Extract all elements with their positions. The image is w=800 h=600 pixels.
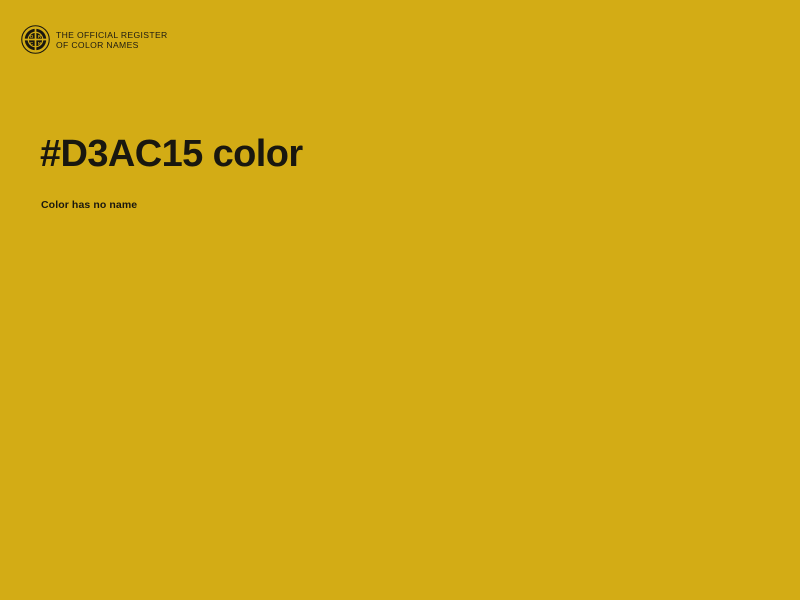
svg-text:O: O xyxy=(30,34,34,39)
svg-text:N: N xyxy=(38,41,41,46)
brand-wordmark: THE OFFICIAL REGISTER OF COLOR NAMES xyxy=(56,30,168,51)
color-name-status: Color has no name xyxy=(41,198,137,212)
color-swatch-field xyxy=(0,0,800,600)
official-register-seal-icon: O R C N xyxy=(21,25,50,54)
page-title: #D3AC15 color xyxy=(40,132,303,176)
brand-lockup[interactable]: O R C N THE OFFICIAL REGISTER OF COLOR N… xyxy=(21,25,168,54)
brand-line-1: THE OFFICIAL REGISTER xyxy=(56,30,168,41)
brand-line-2: OF COLOR NAMES xyxy=(56,40,168,51)
color-page: O R C N THE OFFICIAL REGISTER OF COLOR N… xyxy=(0,0,800,600)
